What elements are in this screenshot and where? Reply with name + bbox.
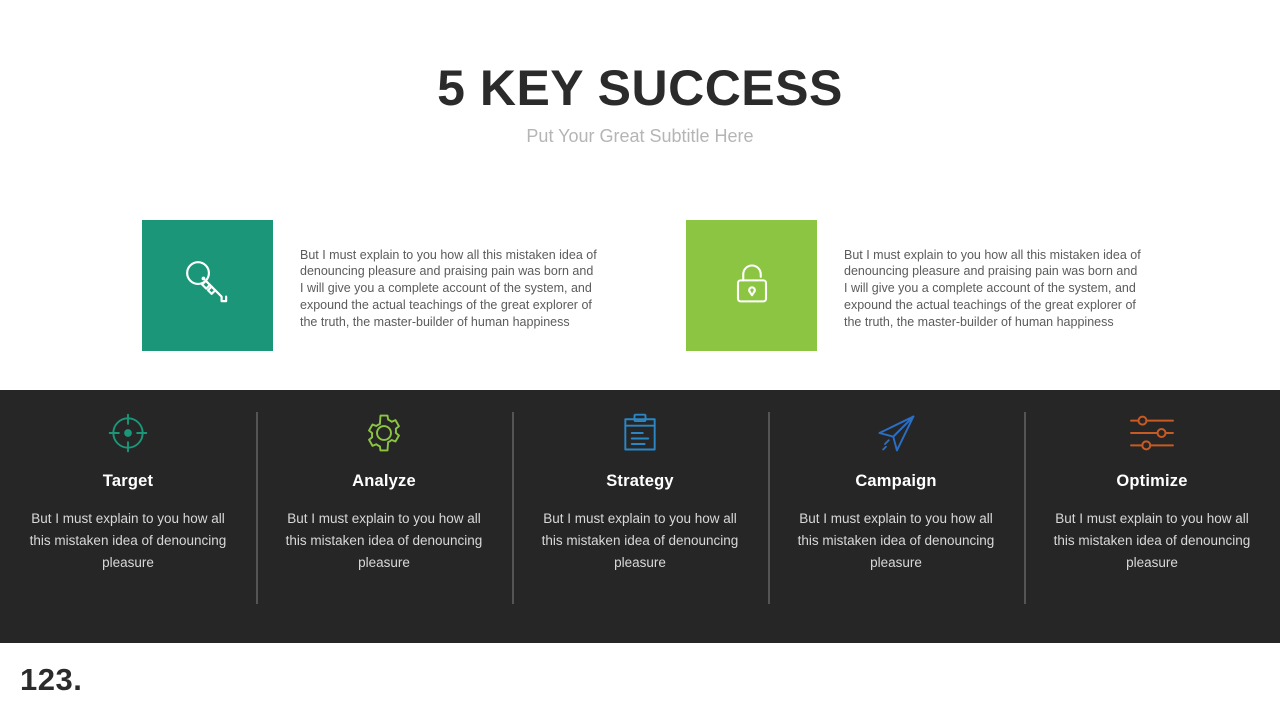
- column-body: But I must explain to you how all this m…: [22, 491, 235, 574]
- unlocked-padlock-icon: [724, 255, 780, 316]
- column-body: But I must explain to you how all this m…: [1046, 491, 1259, 574]
- column-campaign[interactable]: Campaign But I must explain to you how a…: [768, 390, 1024, 643]
- page-title: 5 KEY SUCCESS: [0, 0, 1280, 119]
- column-body: But I must explain to you how all this m…: [534, 491, 747, 574]
- column-target[interactable]: Target But I must explain to you how all…: [0, 390, 256, 643]
- feature-tile-green: [686, 220, 817, 351]
- clipboard-icon: [619, 410, 661, 456]
- column-body: But I must explain to you how all this m…: [790, 491, 1003, 574]
- feature-block-key: But I must explain to you how all this m…: [142, 220, 600, 351]
- feature-text: But I must explain to you how all this m…: [300, 233, 600, 331]
- paper-plane-icon: [873, 410, 919, 456]
- column-title: Campaign: [855, 456, 936, 491]
- slide-header: 5 KEY SUCCESS Put Your Great Subtitle He…: [0, 0, 1280, 147]
- gear-icon: [362, 410, 406, 456]
- column-optimize[interactable]: Optimize But I must explain to you how a…: [1024, 390, 1280, 643]
- column-analyze[interactable]: Analyze But I must explain to you how al…: [256, 390, 512, 643]
- sliders-icon: [1128, 410, 1176, 456]
- column-title: Target: [103, 456, 153, 491]
- feature-tile-teal: [142, 220, 273, 351]
- key-icon: [179, 254, 237, 317]
- feature-blocks: But I must explain to you how all this m…: [0, 220, 1280, 352]
- feature-block-lock: But I must explain to you how all this m…: [686, 220, 1144, 351]
- page-subtitle: Put Your Great Subtitle Here: [0, 119, 1280, 147]
- column-title: Optimize: [1116, 456, 1187, 491]
- column-title: Analyze: [352, 456, 416, 491]
- five-key-columns-band: Target But I must explain to you how all…: [0, 390, 1280, 643]
- column-title: Strategy: [606, 456, 674, 491]
- column-body: But I must explain to you how all this m…: [278, 491, 491, 574]
- column-strategy[interactable]: Strategy But I must explain to you how a…: [512, 390, 768, 643]
- target-crosshair-icon: [106, 410, 150, 456]
- feature-text: But I must explain to you how all this m…: [844, 233, 1144, 331]
- page-number: 123.: [20, 662, 82, 698]
